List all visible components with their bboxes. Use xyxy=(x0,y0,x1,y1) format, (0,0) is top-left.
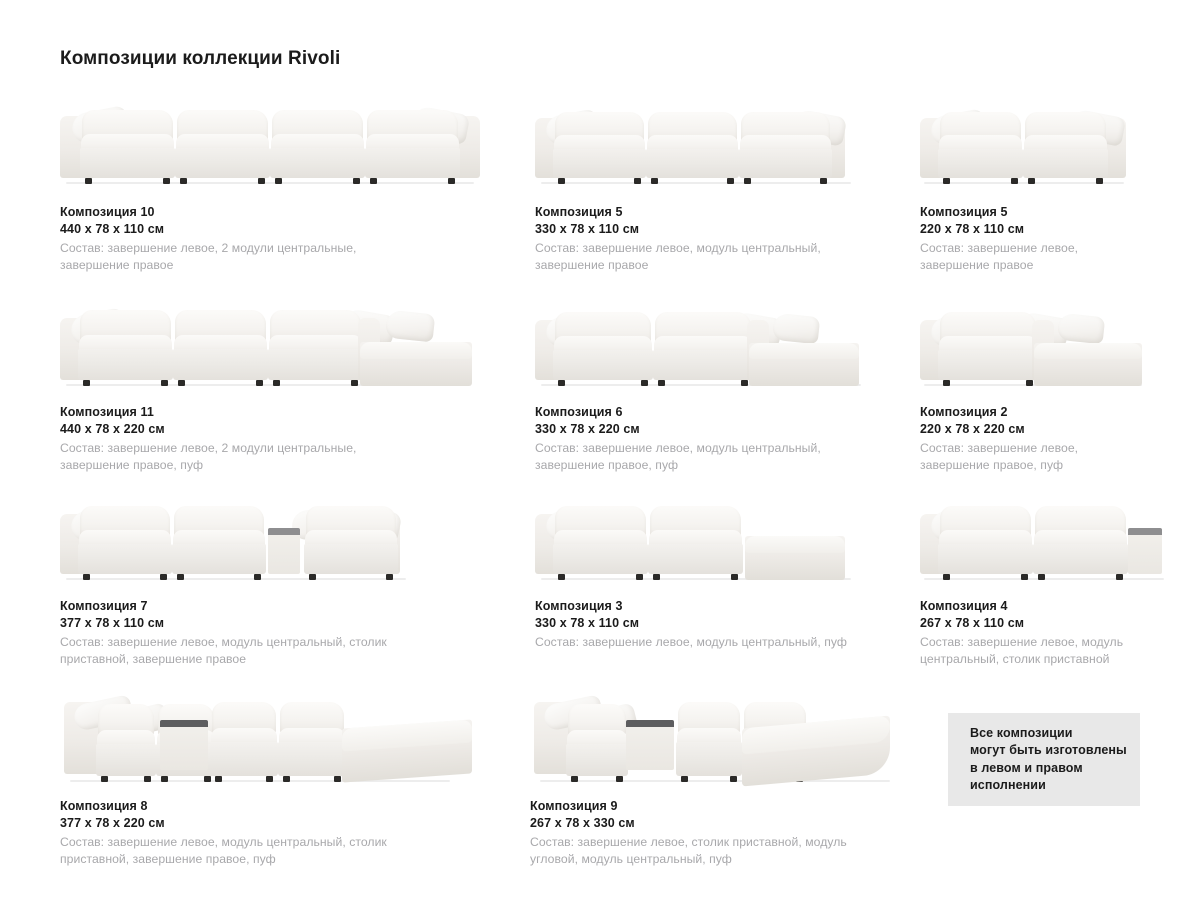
composition-dimensions: 330 x 78 x 110 см xyxy=(535,615,885,632)
composition-description: Состав: завершение левое, модуль централ… xyxy=(920,634,1150,668)
composition-card-6[interactable]: Композиция 6 330 x 78 x 220 см Состав: з… xyxy=(535,290,885,474)
composition-description: Состав: завершение левое, модуль централ… xyxy=(60,834,440,868)
composition-7-image xyxy=(60,486,480,580)
composition-dimensions: 267 x 78 x 110 см xyxy=(920,615,1170,632)
side-table-module xyxy=(268,528,300,574)
composition-5-330-image xyxy=(535,92,885,184)
composition-name: Композиция 3 xyxy=(535,598,885,615)
composition-card-5-330[interactable]: Композиция 5 330 x 78 x 110 см Состав: з… xyxy=(535,92,885,274)
puff-module xyxy=(749,343,859,386)
composition-card-4[interactable]: Композиция 4 267 x 78 x 110 см Состав: з… xyxy=(920,486,1170,668)
composition-catalog-page: Композиции коллекции Rivoli xyxy=(0,0,1200,900)
production-note-box: Все композиции могут быть изготовлены в … xyxy=(948,713,1140,806)
composition-10-image xyxy=(60,92,480,184)
composition-dimensions: 440 x 78 x 220 см xyxy=(60,421,480,438)
composition-dimensions: 267 x 78 x 330 см xyxy=(530,815,900,832)
composition-name: Композиция 5 xyxy=(920,204,1170,221)
composition-card-2[interactable]: Композиция 2 220 x 78 x 220 см Состав: з… xyxy=(920,290,1170,474)
side-table-module xyxy=(1128,528,1162,574)
composition-11-image xyxy=(60,290,480,386)
composition-card-3[interactable]: Композиция 3 330 x 78 x 110 см Состав: з… xyxy=(535,486,885,651)
puff-module xyxy=(360,342,472,386)
composition-name: Композиция 6 xyxy=(535,404,885,421)
composition-dimensions: 440 x 78 x 110 см xyxy=(60,221,480,238)
composition-name: Композиция 2 xyxy=(920,404,1170,421)
composition-card-8[interactable]: Композиция 8 377 x 78 x 220 см Состав: з… xyxy=(60,682,480,868)
composition-name: Композиция 9 xyxy=(530,798,900,815)
composition-description: Состав: завершение левое, завершение пра… xyxy=(920,440,1135,474)
puff-module xyxy=(1034,343,1142,386)
composition-dimensions: 330 x 78 x 220 см xyxy=(535,421,885,438)
composition-card-5-220[interactable]: Композиция 5 220 x 78 x 110 см Состав: з… xyxy=(920,92,1170,274)
composition-card-9[interactable]: Композиция 9 267 x 78 x 330 см Состав: з… xyxy=(530,682,900,868)
composition-3-image xyxy=(535,486,885,580)
composition-9-image xyxy=(530,682,900,782)
composition-description: Состав: завершение левое, завершение пра… xyxy=(920,240,1135,274)
composition-dimensions: 220 x 78 x 110 см xyxy=(920,221,1170,238)
side-table-module xyxy=(626,720,674,770)
composition-4-image xyxy=(920,486,1170,580)
composition-name: Композиция 8 xyxy=(60,798,480,815)
composition-description: Состав: завершение левое, модуль централ… xyxy=(535,634,885,651)
production-note-text: Все композиции могут быть изготовлены в … xyxy=(948,725,1127,795)
puff-module xyxy=(745,536,845,580)
composition-card-10[interactable]: Композиция 10 440 x 78 x 110 см Состав: … xyxy=(60,92,480,274)
composition-dimensions: 377 x 78 x 220 см xyxy=(60,815,480,832)
composition-name: Композиция 5 xyxy=(535,204,885,221)
composition-description: Состав: завершение левое, 2 модули центр… xyxy=(60,440,410,474)
puff-module xyxy=(342,719,472,782)
composition-name: Композиция 4 xyxy=(920,598,1170,615)
composition-description: Состав: завершение левое, модуль централ… xyxy=(535,240,875,274)
composition-dimensions: 220 x 78 x 220 см xyxy=(920,421,1170,438)
composition-8-image xyxy=(60,682,480,782)
side-table-module xyxy=(160,720,208,770)
composition-description: Состав: завершение левое, столик пристав… xyxy=(530,834,890,868)
composition-2-image xyxy=(920,290,1170,386)
composition-description: Состав: завершение левое, модуль централ… xyxy=(60,634,440,668)
composition-card-11[interactable]: Композиция 11 440 x 78 x 220 см Состав: … xyxy=(60,290,480,474)
composition-card-7[interactable]: Композиция 7 377 x 78 x 110 см Состав: з… xyxy=(60,486,480,668)
composition-dimensions: 330 x 78 x 110 см xyxy=(535,221,885,238)
composition-dimensions: 377 x 78 x 110 см xyxy=(60,615,480,632)
composition-grid: Композиция 10 440 x 78 x 110 см Состав: … xyxy=(0,0,1200,900)
puff-module xyxy=(742,716,890,787)
composition-5-220-image xyxy=(920,92,1170,184)
composition-description: Состав: завершение левое, модуль централ… xyxy=(535,440,875,474)
composition-description: Состав: завершение левое, 2 модули центр… xyxy=(60,240,410,274)
composition-name: Композиция 7 xyxy=(60,598,480,615)
composition-name: Композиция 11 xyxy=(60,404,480,421)
composition-name: Композиция 10 xyxy=(60,204,480,221)
composition-6-image xyxy=(535,290,885,386)
